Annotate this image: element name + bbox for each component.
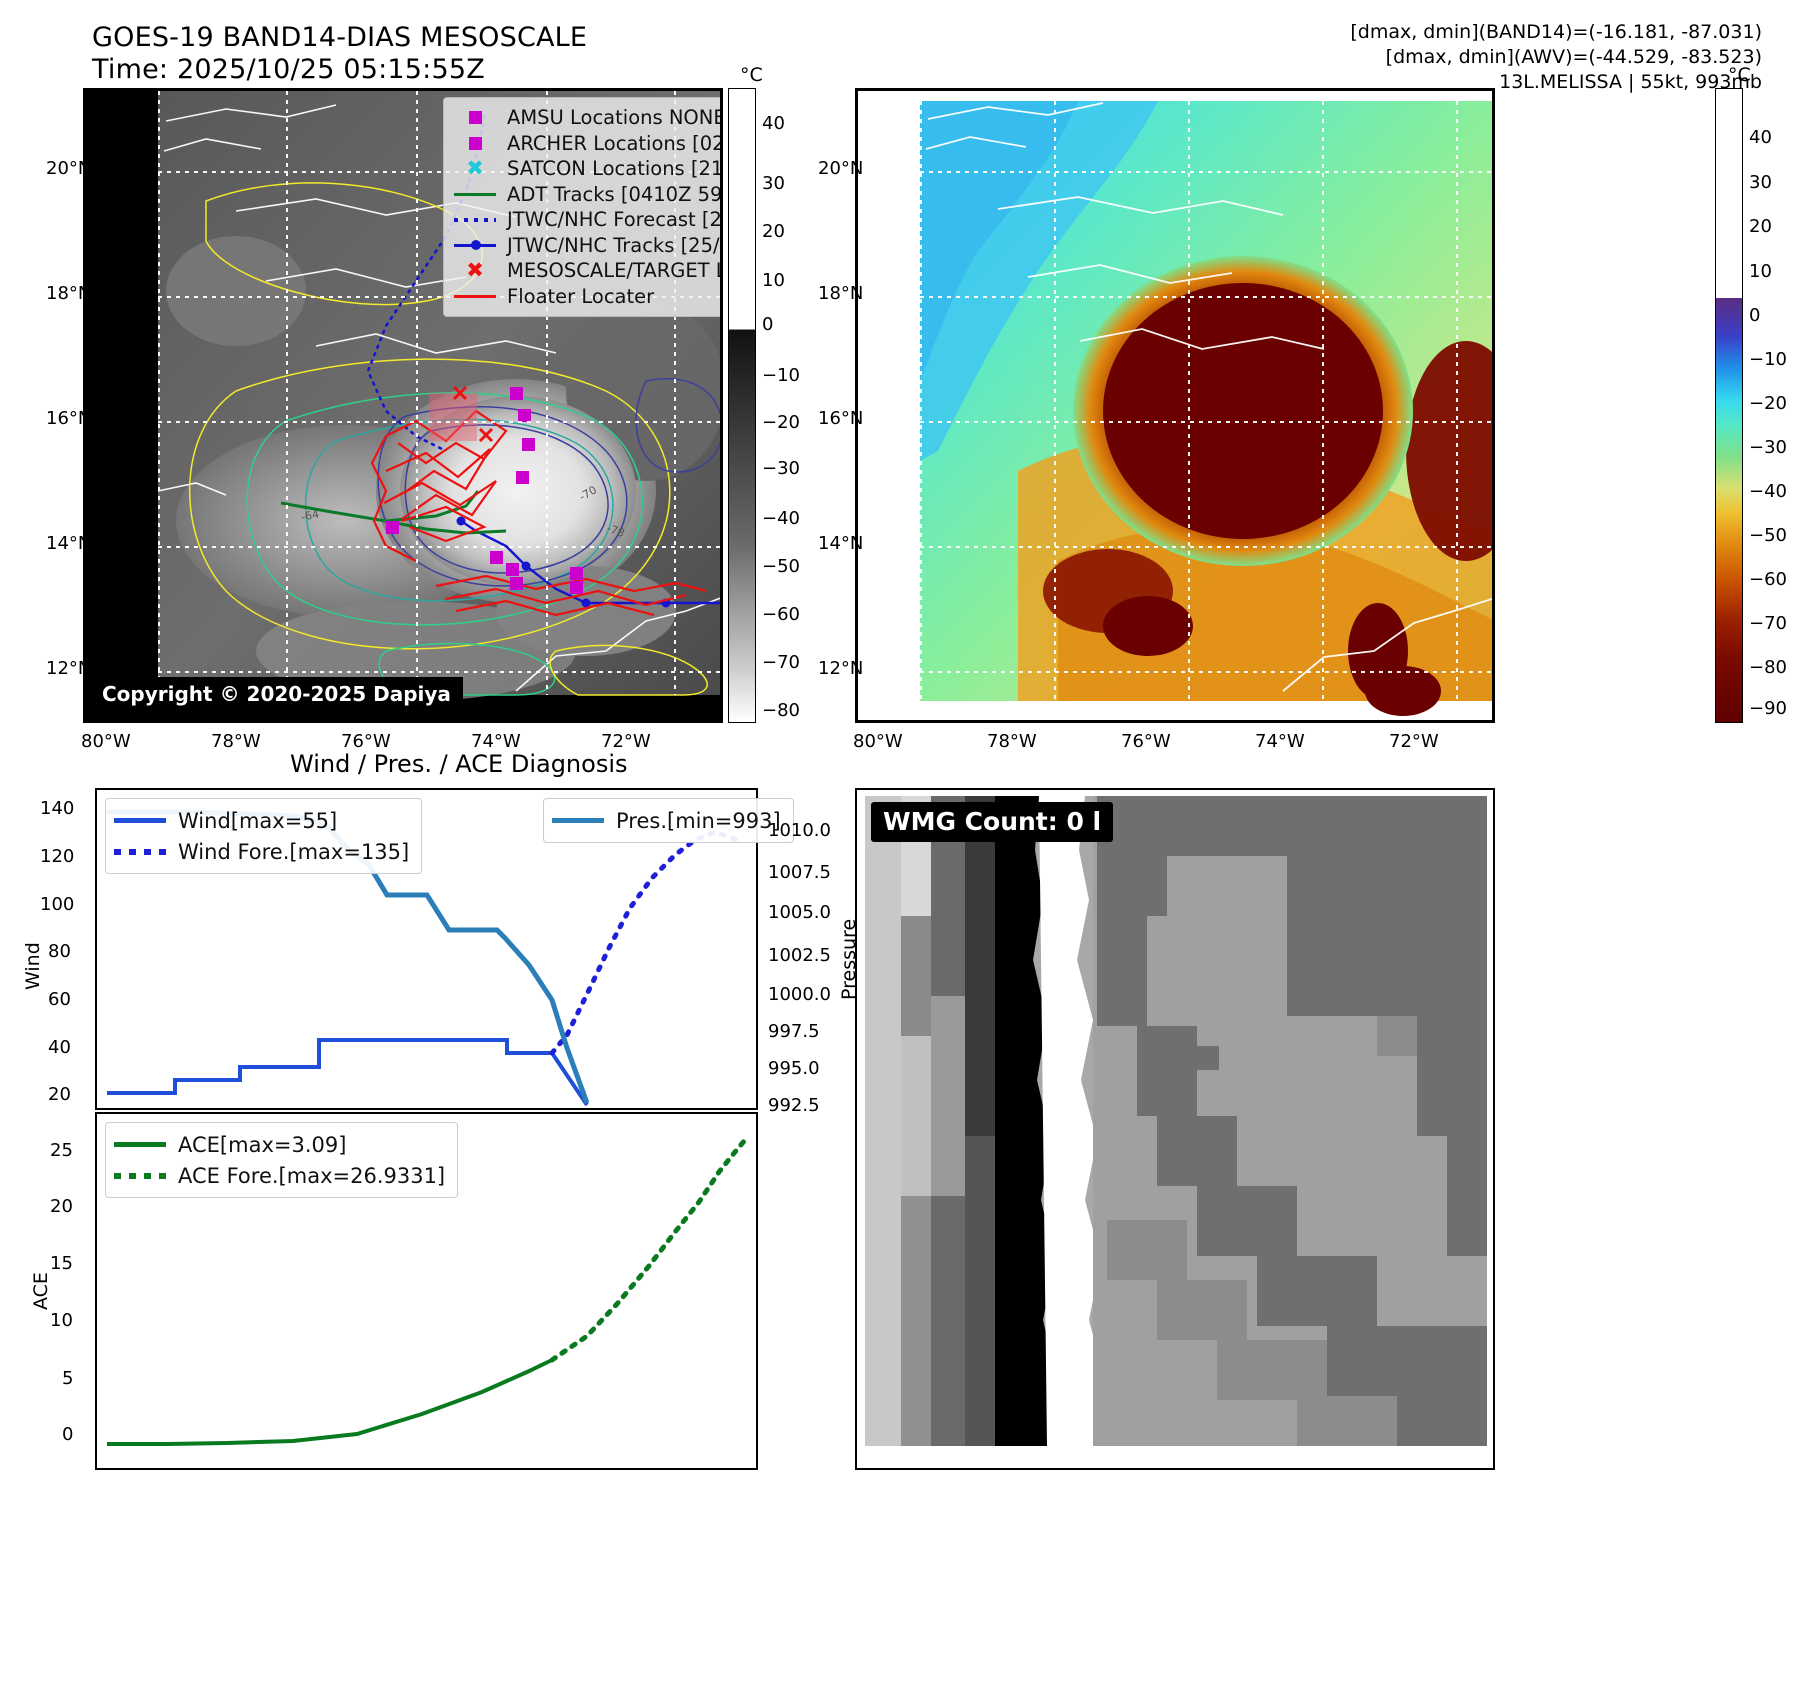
cb-tick: −70 — [762, 652, 800, 673]
x-marker-icon: ✖ — [452, 260, 498, 281]
dotted-line-icon — [452, 218, 498, 222]
cb-tick: 0 — [762, 314, 773, 335]
legend-item[interactable]: JTWC/NHC Forecast [25/0000Z] — [452, 207, 723, 233]
cb-tick: −20 — [762, 412, 800, 433]
y-tick: 25 — [50, 1140, 73, 1161]
cb-tick: −40 — [1749, 481, 1787, 502]
map-right-gridline-lon — [1054, 101, 1056, 701]
map-right-gridline-lon — [1322, 101, 1324, 701]
wmg-count-badge: WMG Count: 0 l — [871, 802, 1113, 842]
cb-tick: 10 — [1749, 261, 1772, 282]
lon-tick: 80°W — [853, 731, 903, 752]
cb-tick: −70 — [1749, 613, 1787, 634]
series-wind-forecast — [552, 832, 737, 1053]
ace-legend: ACE[max=3.09] ACE Fore.[max=26.9331] — [105, 1122, 458, 1198]
legend-label: ACE Fore.[max=26.9331] — [178, 1164, 445, 1188]
series-ace-forecast — [552, 1140, 745, 1360]
y2-tick: 1002.5 — [768, 945, 831, 966]
map-right-gridline-lon — [1188, 101, 1190, 701]
cb-tick: 40 — [1749, 127, 1772, 148]
pressure-legend: Pres.[min=993] — [543, 798, 794, 843]
y2-tick: 1010.0 — [768, 820, 831, 841]
wind-legend: Wind[max=55] Wind Fore.[max=135] — [105, 798, 422, 874]
page-title: GOES-19 BAND14-DIAS MESOSCALE — [92, 22, 587, 53]
cb-tick: −20 — [1749, 393, 1787, 414]
colorbar-left-unit: °C — [740, 64, 763, 86]
wind-pressure-plot[interactable]: Wind[max=55] Wind Fore.[max=135] Pres.[m… — [95, 788, 758, 1110]
colorbar-right-unit: °C — [1728, 64, 1751, 86]
header-info-awv: [dmax, dmin](AWV)=(-44.529, -83.523) — [1062, 45, 1762, 70]
y-tick: 60 — [48, 989, 71, 1010]
cb-tick: −10 — [1749, 349, 1787, 370]
legend-item[interactable]: ✖ MESOSCALE/TARGET Location — [452, 258, 723, 284]
y-tick: 10 — [50, 1310, 73, 1331]
lat-tick: 14°N — [818, 533, 863, 554]
map-right-gridline-lat — [920, 421, 1492, 423]
cb-tick: 30 — [1749, 172, 1772, 193]
colorbar-right — [1715, 88, 1743, 723]
lon-tick: 78°W — [987, 731, 1037, 752]
colorbar-left — [728, 88, 756, 723]
lat-tick: 20°N — [818, 158, 863, 179]
lon-tick: 72°W — [1389, 731, 1439, 752]
map-left-gridline-lat — [158, 671, 720, 673]
legend-label: SATCON Locations [2110Z 49 993] — [507, 157, 723, 180]
lon-tick: 76°W — [341, 731, 391, 752]
map-left-gridline-lat — [158, 546, 720, 548]
y2-tick: 997.5 — [768, 1021, 820, 1042]
legend-item[interactable]: Floater Locater — [452, 284, 723, 310]
copyright-notice: Copyright © 2020-2025 Dapiya — [90, 677, 463, 712]
legend-label: Wind Fore.[max=135] — [178, 840, 409, 864]
cb-tick: −50 — [1749, 525, 1787, 546]
lat-tick: 16°N — [46, 408, 91, 429]
line-icon — [452, 193, 498, 196]
legend-item[interactable]: ARCHER Locations [0245Z] — [452, 131, 723, 157]
cb-tick: −80 — [1749, 657, 1787, 678]
cb-tick: −10 — [762, 365, 800, 386]
legend-item[interactable]: AMSU Locations NONE — [452, 105, 723, 131]
legend-label: Floater Locater — [507, 285, 654, 308]
legend-label: JTWC/NHC Forecast [25/0000Z] — [507, 208, 723, 231]
cb-tick: −30 — [1749, 437, 1787, 458]
lat-tick: 18°N — [46, 283, 91, 304]
x-marker-icon: ✖ — [452, 158, 498, 179]
y2-tick: 995.0 — [768, 1058, 820, 1079]
cb-tick: −60 — [1749, 569, 1787, 590]
legend-label: Pres.[min=993] — [616, 809, 781, 833]
square-icon — [452, 111, 498, 124]
cb-tick: −50 — [762, 556, 800, 577]
line-point-icon — [452, 244, 498, 247]
lat-tick: 20°N — [46, 158, 91, 179]
chart-title: Wind / Pres. / ACE Diagnosis — [290, 750, 628, 778]
cb-tick: −30 — [762, 458, 800, 479]
series-ace — [107, 1360, 552, 1444]
cb-tick: 0 — [1749, 305, 1760, 326]
map-right-gridline-lat — [920, 671, 1492, 673]
legend-label: AMSU Locations NONE — [507, 106, 723, 129]
dotted-line-icon — [114, 849, 170, 855]
legend-item[interactable]: ACE Fore.[max=26.9331] — [114, 1160, 445, 1191]
legend-label: MESOSCALE/TARGET Location — [507, 259, 723, 282]
y2-tick: 1005.0 — [768, 902, 831, 923]
cb-tick: 10 — [762, 270, 785, 291]
line-icon — [114, 818, 170, 823]
map-right-gridline-lat — [920, 296, 1492, 298]
y-tick: 100 — [40, 894, 74, 915]
legend-item[interactable]: ACE[max=3.09] — [114, 1129, 445, 1160]
cb-tick: 20 — [762, 221, 785, 242]
map-left-gridline-lon — [416, 91, 418, 695]
legend-item[interactable]: Wind Fore.[max=135] — [114, 836, 409, 867]
page-subtitle: Time: 2025/10/25 05:15:55Z — [92, 54, 485, 85]
map-left-legend: AMSU Locations NONE ARCHER Locations [02… — [443, 97, 723, 317]
legend-item[interactable]: JTWC/NHC Tracks [25/0000Z] — [452, 233, 723, 259]
map-right-imagery — [858, 91, 1492, 720]
y2-tick: 992.5 — [768, 1095, 820, 1116]
lat-tick: 18°N — [818, 283, 863, 304]
cb-tick: −90 — [1749, 698, 1787, 719]
lon-tick: 80°W — [81, 731, 131, 752]
lon-tick: 78°W — [211, 731, 261, 752]
legend-label: ADT Tracks [0410Z 59.0 987.6] — [507, 183, 723, 206]
y-tick: 140 — [40, 798, 74, 819]
map-panel-left[interactable]: -64 -78 -70 AMSU Locations NONE ARCHER L… — [83, 88, 723, 723]
cb-tick: 40 — [762, 113, 785, 134]
lon-tick: 76°W — [1121, 731, 1171, 752]
wmg-panel[interactable]: WMG Count: 0 l — [855, 788, 1495, 1470]
map-right-gridline-lat — [920, 546, 1492, 548]
lat-tick: 12°N — [818, 658, 863, 679]
y-tick: 5 — [62, 1368, 73, 1389]
page-title-line1: GOES-19 BAND14-DIAS MESOSCALE — [92, 22, 587, 53]
dotted-line-icon — [114, 1173, 170, 1179]
legend-label: JTWC/NHC Tracks [25/0000Z] — [507, 234, 723, 257]
legend-label: ACE[max=3.09] — [178, 1133, 346, 1157]
y-tick: 80 — [48, 941, 71, 962]
y-tick: 0 — [62, 1424, 73, 1445]
map-right-gridline-lon — [1456, 101, 1458, 701]
map-right-canvas — [858, 91, 1492, 720]
legend-item[interactable]: ✖ SATCON Locations [2110Z 49 993] — [452, 156, 723, 182]
legend-item[interactable]: ADT Tracks [0410Z 59.0 987.6] — [452, 182, 723, 208]
map-left-gridline-lat — [158, 421, 720, 423]
legend-item[interactable]: Wind[max=55] — [114, 805, 409, 836]
cb-tick: −80 — [762, 700, 800, 721]
cb-tick: 20 — [1749, 216, 1772, 237]
map-left-gridline-lon — [158, 91, 160, 695]
y-tick: 120 — [40, 846, 74, 867]
y-tick: 40 — [48, 1037, 71, 1058]
y-tick: 15 — [50, 1253, 73, 1274]
line-icon — [552, 818, 608, 823]
y-tick: 20 — [50, 1196, 73, 1217]
y2-tick: 1000.0 — [768, 984, 831, 1005]
page-subtitle-line2: Time: 2025/10/25 05:15:55Z — [92, 54, 485, 85]
ace-axis-label: ACE — [30, 1272, 52, 1310]
line-icon — [114, 1142, 170, 1147]
square-icon — [452, 137, 498, 150]
cb-tick: −40 — [762, 508, 800, 529]
legend-label: ARCHER Locations [0245Z] — [507, 132, 723, 155]
map-right-gridline-lat — [920, 171, 1492, 173]
cb-tick: 30 — [762, 173, 785, 194]
legend-label: Wind[max=55] — [178, 809, 337, 833]
y-tick: 20 — [48, 1084, 71, 1105]
lat-tick: 16°N — [818, 408, 863, 429]
wind-axis-label: Wind — [22, 942, 44, 990]
header-info-band14: [dmax, dmin](BAND14)=(-16.181, -87.031) — [1062, 20, 1762, 45]
lon-tick: 74°W — [1255, 731, 1305, 752]
map-panel-right[interactable] — [855, 88, 1495, 723]
ace-plot[interactable]: ACE[max=3.09] ACE Fore.[max=26.9331] — [95, 1112, 758, 1470]
lat-tick: 14°N — [46, 533, 91, 554]
y2-tick: 1007.5 — [768, 862, 831, 883]
map-left-gridline-lon — [286, 91, 288, 695]
legend-item[interactable]: Pres.[min=993] — [552, 805, 781, 836]
lon-tick: 74°W — [471, 731, 521, 752]
header-info: [dmax, dmin](BAND14)=(-16.181, -87.031) … — [1062, 20, 1762, 95]
wmg-imagery — [857, 790, 1493, 1468]
series-wind — [107, 1040, 587, 1105]
lat-tick: 12°N — [46, 658, 91, 679]
lon-tick: 72°W — [601, 731, 651, 752]
map-right-gridline-lon — [920, 101, 922, 701]
cb-tick: −60 — [762, 604, 800, 625]
line-icon — [452, 295, 498, 298]
